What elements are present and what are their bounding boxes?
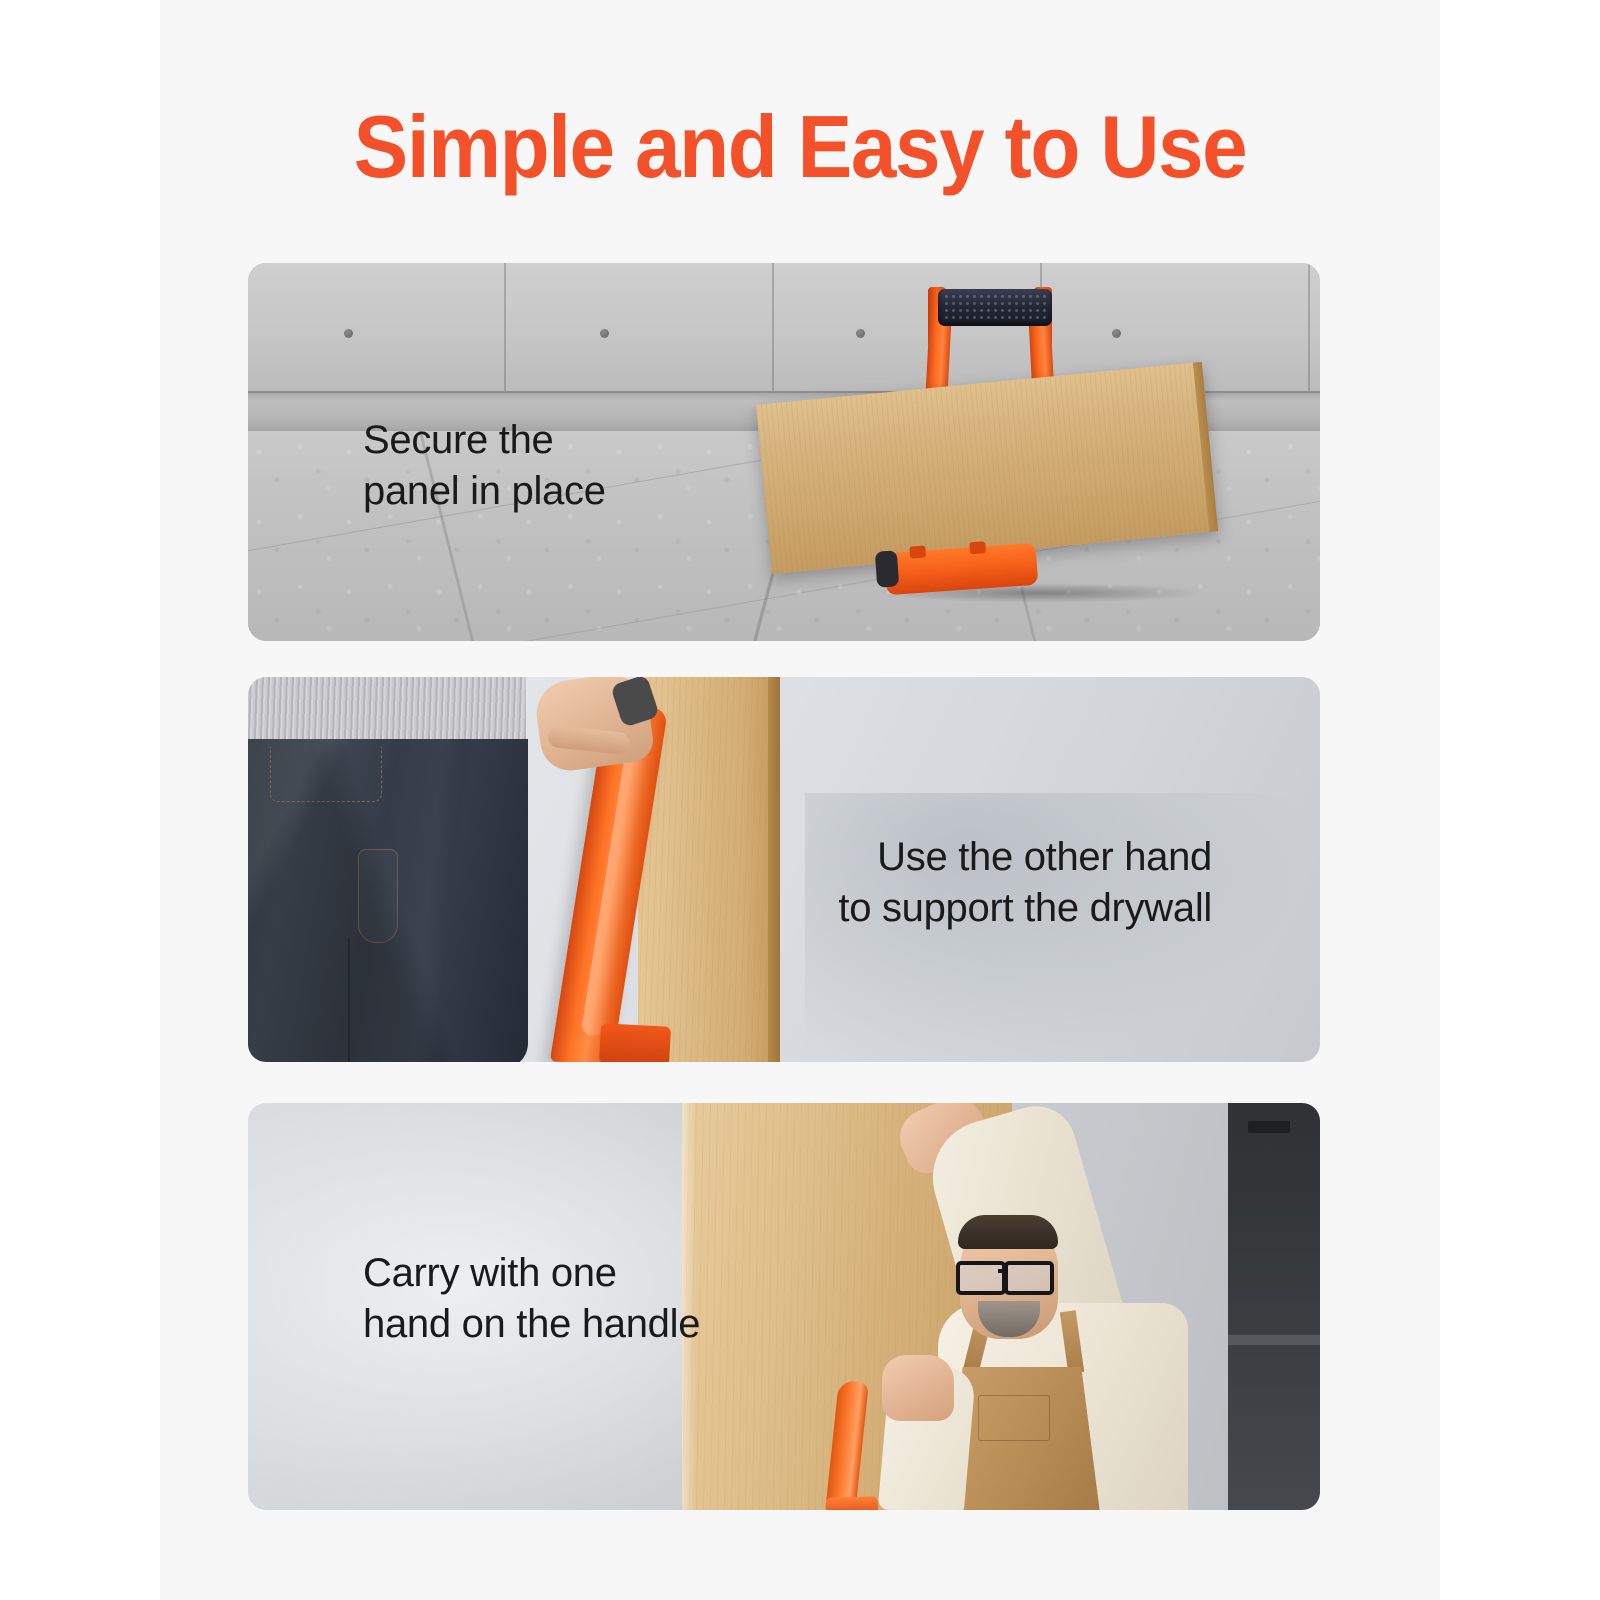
step-card-2[interactable]: Use the other hand to support the drywal… — [248, 677, 1320, 1062]
step-caption-3: Carry with one hand on the handle — [363, 1248, 700, 1350]
page-title: Simple and Easy to Use — [205, 103, 1395, 191]
product-infographic-page: Simple and Easy to Use — [0, 0, 1600, 1600]
step-card-1[interactable]: Secure the panel in place — [248, 263, 1320, 641]
panel-base-endcap — [875, 550, 899, 587]
jeans-leg-seam — [348, 939, 350, 1062]
step-card-3[interactable]: Carry with one hand on the handle — [248, 1103, 1320, 1510]
wall-bolt-icon — [600, 329, 609, 338]
rubber-grip-icon — [938, 289, 1052, 326]
worker-fist — [882, 1355, 954, 1421]
wood-panel-edge — [768, 677, 780, 1062]
step-caption-1: Secure the panel in place — [363, 415, 606, 517]
wood-panel-edge — [1193, 362, 1218, 532]
worker-hair — [958, 1215, 1058, 1249]
jeans-cargo-pocket — [358, 849, 398, 943]
step-caption-2: Use the other hand to support the drywal… — [838, 832, 1212, 934]
glasses-icon — [956, 1261, 1006, 1295]
apron-pocket — [978, 1395, 1050, 1441]
dark-wall — [1228, 1103, 1320, 1510]
wall-trim — [1228, 1335, 1320, 1345]
wall-bolt-icon — [856, 329, 865, 338]
jeans-back-pocket — [270, 747, 382, 802]
glasses-icon — [1004, 1261, 1054, 1295]
ceiling-fixture-icon — [1248, 1121, 1290, 1133]
handle-foot — [826, 1496, 879, 1510]
content-area: Simple and Easy to Use — [160, 0, 1440, 1600]
person-jeans — [248, 739, 528, 1062]
handle-foot — [599, 1023, 671, 1062]
wall-bolt-icon — [344, 329, 353, 338]
glasses-bridge — [998, 1269, 1006, 1273]
panel-carrier-tool — [876, 283, 1296, 641]
